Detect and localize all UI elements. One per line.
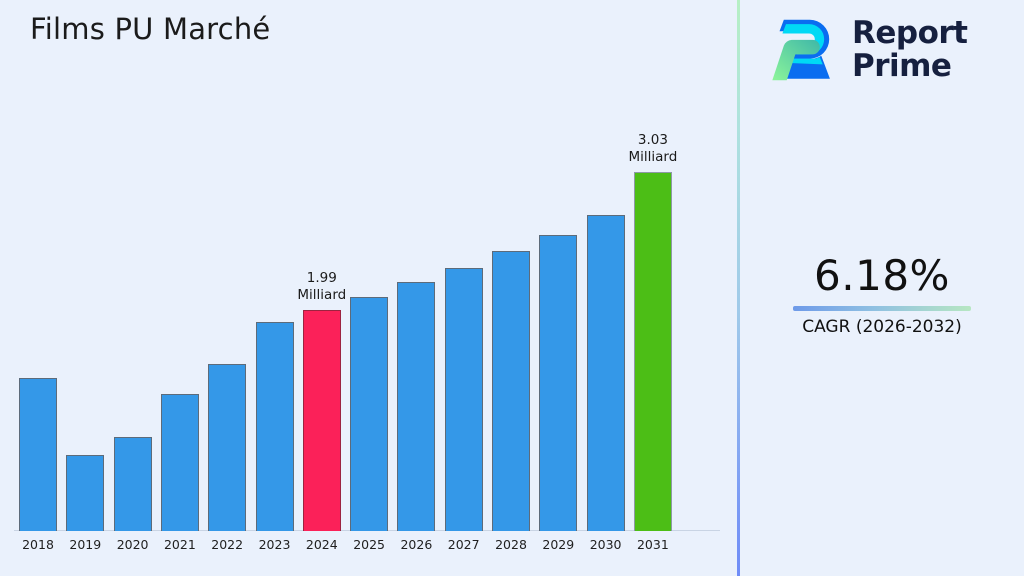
bar-2028[interactable] xyxy=(492,251,530,531)
brand-name-line2: Prime xyxy=(852,50,968,83)
bar-value-unit: Milliard xyxy=(297,287,346,304)
x-tick-2019: 2019 xyxy=(66,537,104,552)
x-tick-2030: 2030 xyxy=(587,537,625,552)
brand-name-line1: Report xyxy=(852,17,968,50)
bar-value-number: 3.03 xyxy=(628,132,677,149)
bar-value-label-2031: 3.03Milliard xyxy=(628,132,677,166)
brand-logo: Report Prime xyxy=(768,14,968,86)
cagr-label: CAGR (2026-2032) xyxy=(740,316,1024,338)
bar-chart-plot-area: 2018201920202021202220231.99Milliard2024… xyxy=(0,0,738,576)
bar-2030[interactable] xyxy=(587,215,625,531)
cagr-block: 6.18% CAGR (2026-2032) xyxy=(740,252,1024,338)
bar-2025[interactable] xyxy=(350,297,388,531)
x-tick-2026: 2026 xyxy=(397,537,435,552)
brand-wordmark: Report Prime xyxy=(852,17,968,83)
bar-2020[interactable] xyxy=(114,437,152,531)
bar-2022[interactable] xyxy=(208,364,246,531)
bar-2018[interactable] xyxy=(19,378,57,531)
x-tick-2027: 2027 xyxy=(445,537,483,552)
report-prime-monogram-icon xyxy=(768,14,840,86)
bar-2024[interactable] xyxy=(303,310,341,531)
bar-value-unit: Milliard xyxy=(628,149,677,166)
bar-value-label-2024: 1.99Milliard xyxy=(297,270,346,304)
x-tick-2021: 2021 xyxy=(161,537,199,552)
x-tick-2024: 2024 xyxy=(303,537,341,552)
bar-2021[interactable] xyxy=(161,394,199,531)
x-tick-2031: 2031 xyxy=(634,537,672,552)
cagr-divider xyxy=(793,306,971,311)
x-tick-2029: 2029 xyxy=(539,537,577,552)
brand-panel: Report Prime 6.18% CAGR (2026-2032) xyxy=(740,0,1024,576)
cagr-value: 6.18% xyxy=(740,252,1024,300)
bar-2019[interactable] xyxy=(66,455,104,531)
x-tick-2028: 2028 xyxy=(492,537,530,552)
x-tick-2023: 2023 xyxy=(256,537,294,552)
chart-panel: Films PU Marché 201820192020202120222023… xyxy=(0,0,738,576)
bar-2023[interactable] xyxy=(256,322,294,531)
bar-2027[interactable] xyxy=(445,268,483,531)
bar-value-number: 1.99 xyxy=(297,270,346,287)
x-tick-2020: 2020 xyxy=(114,537,152,552)
x-tick-2022: 2022 xyxy=(208,537,246,552)
bar-2031[interactable] xyxy=(634,172,672,531)
infographic-root: Films PU Marché 201820192020202120222023… xyxy=(0,0,1024,576)
x-tick-2025: 2025 xyxy=(350,537,388,552)
bar-2026[interactable] xyxy=(397,282,435,531)
bar-2029[interactable] xyxy=(539,235,577,531)
x-tick-2018: 2018 xyxy=(19,537,57,552)
